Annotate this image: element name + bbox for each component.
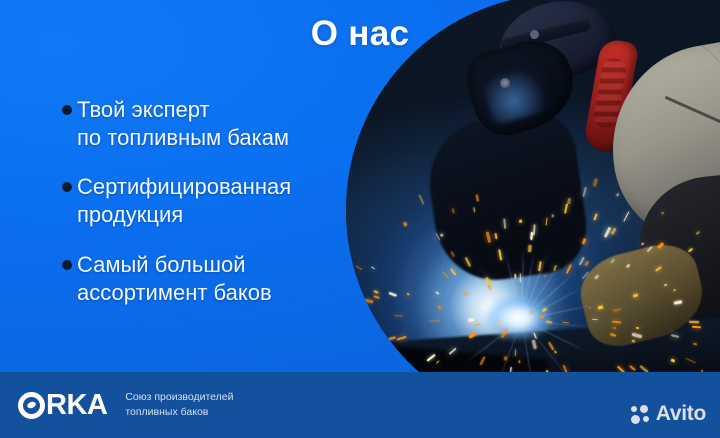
bullet-dot-icon (62, 260, 72, 270)
avito-logo-icon (631, 405, 652, 424)
bullet-dot-icon (62, 182, 72, 192)
avito-watermark: Avito (631, 402, 706, 426)
visor-screw (500, 78, 510, 88)
list-item-label: Твой эксперт по топливным бакам (77, 96, 289, 151)
welder-photo-circle (346, 0, 720, 426)
footer-bar: RKA Союз производителей топливных баков (0, 372, 720, 438)
list-item: Твой эксперт по топливным бакам (62, 96, 392, 151)
welding-arc-core (486, 296, 550, 340)
list-item: Самый большой ассортимент баков (62, 251, 392, 306)
orka-wordmark: RKA (18, 391, 107, 420)
brand-logo: RKA Союз производителей топливных баков (18, 390, 234, 419)
list-item-label: Самый большой ассортимент баков (77, 251, 272, 306)
list-item: Сертифицированная продукция (62, 173, 392, 228)
orka-o-icon (18, 392, 45, 419)
avito-label: Avito (656, 402, 706, 426)
list-item-label: Сертифицированная продукция (77, 173, 291, 228)
brand-tagline: Союз производителей топливных баков (125, 390, 233, 419)
bullet-dot-icon (62, 105, 72, 115)
feature-list: Твой эксперт по топливным бакам Сертифиц… (62, 96, 392, 328)
orka-letters: RKA (46, 391, 107, 420)
page-title: О нас (0, 14, 720, 54)
about-us-banner: О нас Твой эксперт по топливным бакам Се… (0, 0, 720, 438)
